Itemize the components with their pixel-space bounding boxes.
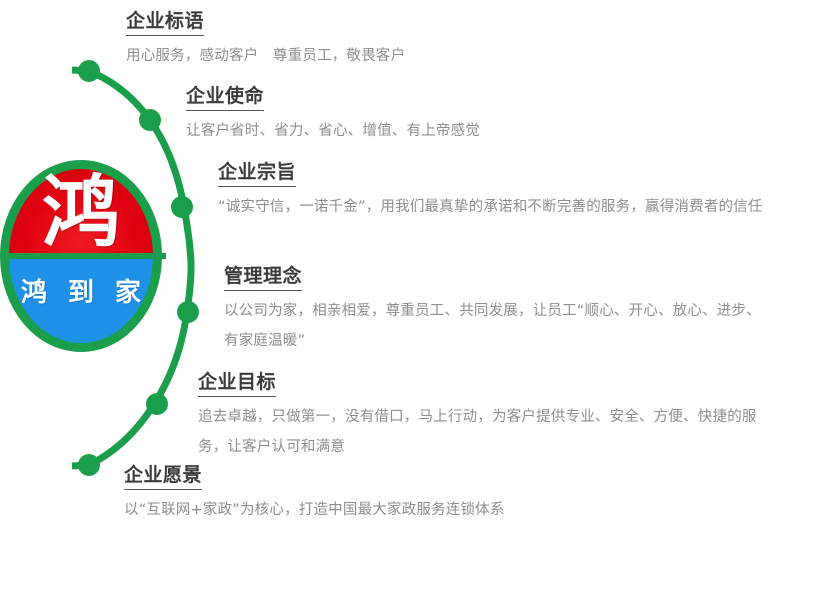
entry-title-wrap: 企业使命 — [186, 83, 786, 116]
entry-corporate-goal: 企业目标 追去卓越，只做第一，没有借口，马上行动，为客户提供专业、安全、方便、快… — [198, 369, 778, 462]
entry-body: 以“互联网+家政”为核心，打造中国最大家政服务连锁体系 — [124, 495, 724, 525]
company-logo: 鸿 鸿 到 家 — [0, 160, 162, 352]
logo-sub-text: 鸿 到 家 — [0, 278, 162, 308]
entry-title: 企业愿景 — [124, 462, 202, 490]
entry-title: 企业目标 — [198, 369, 276, 397]
arc-node-3[interactable] — [171, 196, 193, 218]
entry-body: 以公司为家，相亲相爱，尊重员工、共同发展，让员工“顺心、开心、放心、进步、有家庭… — [224, 296, 771, 356]
arc-node-6[interactable] — [78, 454, 100, 476]
entry-body: 用心服务，感动客户 尊重员工，敬畏客户 — [126, 41, 726, 71]
entry-corporate-mission: 企业使命 让客户省时、省力、省心、增值、有上帝感觉 — [186, 83, 786, 146]
entry-title: 企业使命 — [186, 83, 264, 111]
entry-corporate-slogan: 企业标语 用心服务，感动客户 尊重员工，敬畏客户 — [126, 8, 726, 71]
entry-corporate-vision: 企业愿景 以“互联网+家政”为核心，打造中国最大家政服务连锁体系 — [124, 462, 724, 525]
entry-title: 企业宗旨 — [218, 159, 296, 187]
entry-body: 追去卓越，只做第一，没有借口，马上行动，为客户提供专业、安全、方便、快捷的服务，… — [198, 402, 778, 462]
entry-management-philosophy: 管理理念 以公司为家，相亲相爱，尊重员工、共同发展，让员工“顺心、开心、放心、进… — [224, 263, 771, 356]
entry-title-wrap: 企业愿景 — [124, 462, 724, 495]
entry-title: 管理理念 — [224, 263, 302, 291]
entry-corporate-purpose: 企业宗旨 “诚实守信，一诺千金”，用我们最真挚的承诺和不断完善的服务，赢得消费者… — [218, 159, 768, 222]
entry-body: 让客户省时、省力、省心、增值、有上帝感觉 — [186, 116, 786, 146]
arc-bottom-stub — [72, 465, 92, 466]
arc-node-2[interactable] — [139, 109, 161, 131]
entry-body: “诚实守信，一诺千金”，用我们最真挚的承诺和不断完善的服务，赢得消费者的信任 — [218, 192, 768, 222]
entry-title-wrap: 企业标语 — [126, 8, 726, 41]
entry-title: 企业标语 — [126, 8, 204, 36]
entry-title-wrap: 管理理念 — [224, 263, 771, 296]
arc-node-4[interactable] — [177, 301, 199, 323]
arc-top-stub — [72, 70, 92, 71]
entry-title-wrap: 企业目标 — [198, 369, 778, 402]
arc-node-1[interactable] — [78, 60, 100, 82]
entry-title-wrap: 企业宗旨 — [218, 159, 768, 192]
logo-main-character: 鸿 — [0, 174, 162, 252]
infographic-canvas: 鸿 鸿 到 家 企业标语 用心服务，感动客户 尊重员工，敬畏客户 企业使命 让客… — [0, 0, 817, 592]
arc-node-5[interactable] — [146, 393, 168, 415]
